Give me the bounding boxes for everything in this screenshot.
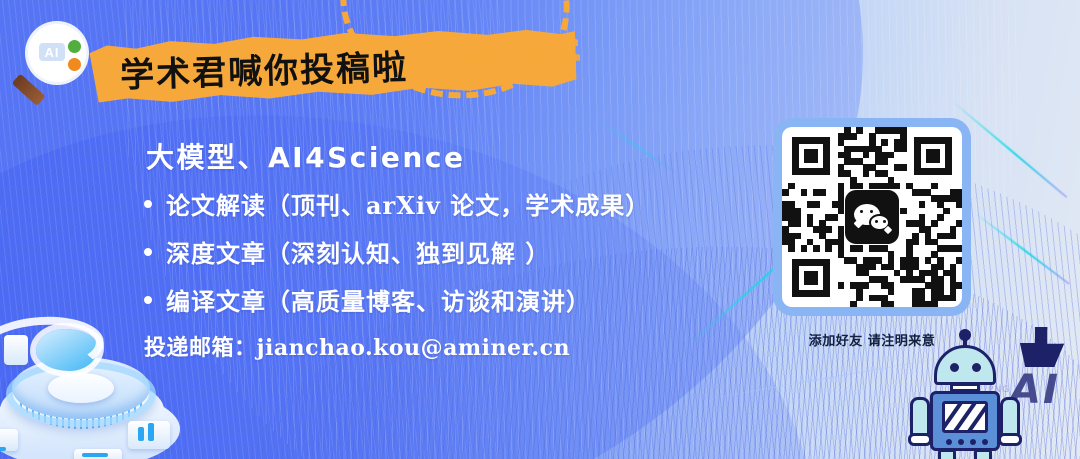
robot-button: [958, 439, 964, 445]
logo-magnifier: AI: [14, 20, 96, 102]
robot-eye-right: [972, 363, 981, 372]
list-item-label: 深度文章（深刻认知、独到见解 ）: [166, 234, 550, 269]
logo-ai-label: AI: [39, 43, 65, 61]
qr-finder-top-left: [792, 137, 830, 175]
robot-illustration: PNG AI: [892, 313, 1072, 459]
logo-dot-green-icon: [68, 40, 81, 53]
wechat-icon: [845, 190, 899, 244]
headline-topics: 大模型、AI4Science: [146, 136, 465, 176]
robot-screen: [942, 401, 988, 433]
dais-bar: [0, 447, 6, 451]
tech-platform-illustration: [0, 317, 188, 459]
robot-button: [982, 439, 988, 445]
dais-bar: [82, 453, 108, 457]
bullet-dot-icon: [144, 248, 152, 256]
dais-bar: [138, 427, 144, 441]
bullet-dot-icon: [144, 200, 152, 208]
robot-button: [946, 439, 952, 445]
qr-finder-top-right: [914, 137, 952, 175]
robot-eye-left: [950, 363, 959, 372]
dais-bar: [148, 423, 154, 441]
robot-head: [934, 345, 996, 385]
list-item-label: 论文解读（顶刊、arXiv 论文，学术成果）: [166, 186, 650, 221]
dais-chip: [4, 335, 28, 365]
robot-leg-left: [938, 449, 956, 459]
list-item-label: 编译文章（高质量博客、访谈和演讲）: [166, 282, 591, 317]
magnifier-handle-icon: [12, 74, 46, 106]
list-item: 深度文章（深刻认知、独到见解 ）: [144, 234, 784, 269]
robot-hand-right: [998, 433, 1022, 446]
promo-banner: AI 学术君喊你投稿啦 大模型、AI4Science 论文解读（顶刊、arXiv…: [0, 0, 1080, 459]
pointing-hand-icon: [1020, 327, 1064, 367]
qr-code-canvas: [782, 127, 962, 307]
robot-hand-left: [908, 433, 932, 446]
logo-dot-orange-icon: [68, 58, 81, 71]
content-type-list: 论文解读（顶刊、arXiv 论文，学术成果） 深度文章（深刻认知、独到见解 ） …: [144, 186, 784, 330]
robot-button: [970, 439, 976, 445]
submission-email: 投递邮箱：jianchao.kou@aminer.cn: [144, 330, 570, 362]
list-item: 编译文章（高质量博客、访谈和演讲）: [144, 282, 784, 317]
qr-code[interactable]: [773, 118, 971, 316]
qr-finder-bottom-left: [792, 259, 830, 297]
robot-leg-right: [974, 449, 992, 459]
list-item: 论文解读（顶刊、arXiv 论文，学术成果）: [144, 186, 784, 221]
bullet-dot-icon: [144, 296, 152, 304]
dais-core: [48, 373, 114, 403]
